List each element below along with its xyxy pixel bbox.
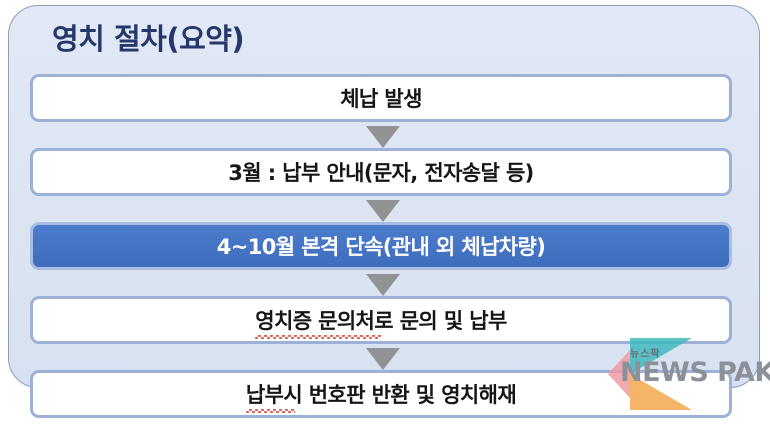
flow-step-3-label: 4~10월 본격 단속(관내 외 체납차량) xyxy=(217,231,546,261)
flow-step-4-label: 영치증 문의처로 문의 및 납부 xyxy=(255,305,506,335)
flow-step-5-text: 납부시 번호판 반환 및 영치해재 xyxy=(246,383,516,407)
diagram-canvas: 영치 절차(요약) 체납 발생 3월 : 납부 안내(문자, 전자송달 등) 4… xyxy=(0,0,770,425)
flow-step-4: 영치증 문의처로 문의 및 납부 xyxy=(30,296,732,344)
spellcheck-underline-5 xyxy=(246,409,295,413)
spellcheck-underline-4 xyxy=(255,335,381,339)
arrow-down-icon-2 xyxy=(366,200,400,222)
flow-step-5: 납부시 번호판 반환 및 영치해재 xyxy=(30,370,732,418)
flow-step-1-label: 체납 발생 xyxy=(340,83,422,113)
flow-step-4-text: 영치증 문의처로 문의 및 납부 xyxy=(255,309,506,333)
flow-step-2: 3월 : 납부 안내(문자, 전자송달 등) xyxy=(30,148,732,196)
flow-step-5-label: 납부시 번호판 반환 및 영치해재 xyxy=(246,379,516,409)
flow-step-2-label: 3월 : 납부 안내(문자, 전자송달 등) xyxy=(228,157,533,187)
flow-step-3-highlighted: 4~10월 본격 단속(관내 외 체납차량) xyxy=(30,222,732,270)
arrow-down-icon-3 xyxy=(366,274,400,296)
arrow-down-icon-4 xyxy=(366,348,400,370)
arrow-down-icon-1 xyxy=(366,126,400,148)
page-title: 영치 절차(요약) xyxy=(52,16,244,58)
flow-step-1: 체납 발생 xyxy=(30,74,732,122)
